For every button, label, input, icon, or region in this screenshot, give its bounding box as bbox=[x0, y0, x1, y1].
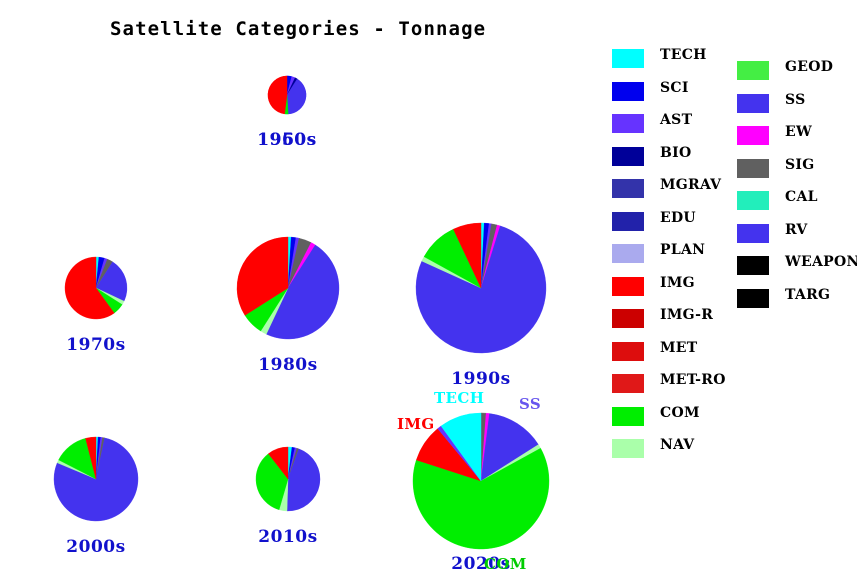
pie-chart-1960s[interactable] bbox=[265, 73, 309, 117]
legend-label: COM bbox=[660, 405, 700, 421]
legend-label: PLAN bbox=[660, 242, 705, 258]
legend-swatch-icon bbox=[612, 82, 644, 101]
legend-swatch-icon bbox=[612, 49, 644, 68]
legend-label: GEOD bbox=[785, 59, 833, 75]
legend-label: SS bbox=[785, 92, 806, 108]
legend-label: MGRAV bbox=[660, 177, 721, 193]
legend-swatch-icon bbox=[612, 147, 644, 166]
legend-swatch-icon bbox=[612, 374, 644, 393]
legend-label: MET bbox=[660, 340, 698, 356]
legend-label: EDU bbox=[660, 210, 696, 226]
legend-label: IMG bbox=[660, 275, 695, 291]
decade-label-2000s: 2000s bbox=[66, 537, 126, 557]
legend-swatch-icon bbox=[612, 244, 644, 263]
decade-label-2010s: 2010s bbox=[258, 527, 318, 547]
pie-chart-1990s[interactable] bbox=[413, 220, 549, 356]
chart-canvas: Satellite Categories - Tonnage 1950s1960… bbox=[0, 0, 857, 576]
legend-label: TARG bbox=[785, 287, 830, 303]
slice-callout-tech: TECH bbox=[434, 389, 484, 407]
page-title: Satellite Categories - Tonnage bbox=[110, 18, 486, 40]
legend-swatch-icon bbox=[612, 179, 644, 198]
legend-swatch-icon bbox=[737, 159, 769, 178]
legend-swatch-icon bbox=[612, 407, 644, 426]
slice-callout-com: COM bbox=[484, 555, 527, 573]
legend-label: MET-RO bbox=[660, 372, 726, 388]
legend-label: BIO bbox=[660, 145, 691, 161]
legend-swatch-icon bbox=[737, 224, 769, 243]
decade-label-1980s: 1980s bbox=[258, 355, 318, 375]
legend-swatch-icon bbox=[737, 289, 769, 308]
legend-label: SCI bbox=[660, 80, 689, 96]
legend-swatch-icon bbox=[612, 114, 644, 133]
legend-swatch-icon bbox=[612, 309, 644, 328]
legend-label: SIG bbox=[785, 157, 815, 173]
legend-swatch-icon bbox=[737, 94, 769, 113]
legend-label: WEAPON bbox=[785, 254, 857, 270]
decade-label-1990s: 1990s bbox=[451, 369, 511, 389]
slice-callout-img: IMG bbox=[397, 415, 435, 433]
legend-swatch-icon bbox=[737, 191, 769, 210]
legend-swatch-icon bbox=[612, 439, 644, 458]
legend-label: RV bbox=[785, 222, 808, 238]
legend-label: AST bbox=[660, 112, 692, 128]
legend-label: NAV bbox=[660, 437, 694, 453]
legend-swatch-icon bbox=[612, 277, 644, 296]
pie-slice-img[interactable] bbox=[268, 76, 287, 114]
pie-chart-1970s[interactable] bbox=[62, 254, 130, 322]
decade-label-1960s: 1960s bbox=[257, 130, 317, 150]
legend-swatch-icon bbox=[612, 342, 644, 361]
legend-swatch-icon bbox=[737, 61, 769, 80]
legend-label: TECH bbox=[660, 47, 707, 63]
pie-chart-1980s[interactable] bbox=[234, 234, 342, 342]
legend-label: CAL bbox=[785, 189, 818, 205]
pie-chart-2010s[interactable] bbox=[253, 444, 323, 514]
slice-callout-ss: SS bbox=[519, 395, 541, 413]
legend-label: EW bbox=[785, 124, 812, 140]
legend-swatch-icon bbox=[612, 212, 644, 231]
legend-swatch-icon bbox=[737, 256, 769, 275]
pie-chart-2000s[interactable] bbox=[51, 434, 141, 524]
legend-swatch-icon bbox=[737, 126, 769, 145]
decade-label-1970s: 1970s bbox=[66, 335, 126, 355]
legend-label: IMG-R bbox=[660, 307, 713, 323]
